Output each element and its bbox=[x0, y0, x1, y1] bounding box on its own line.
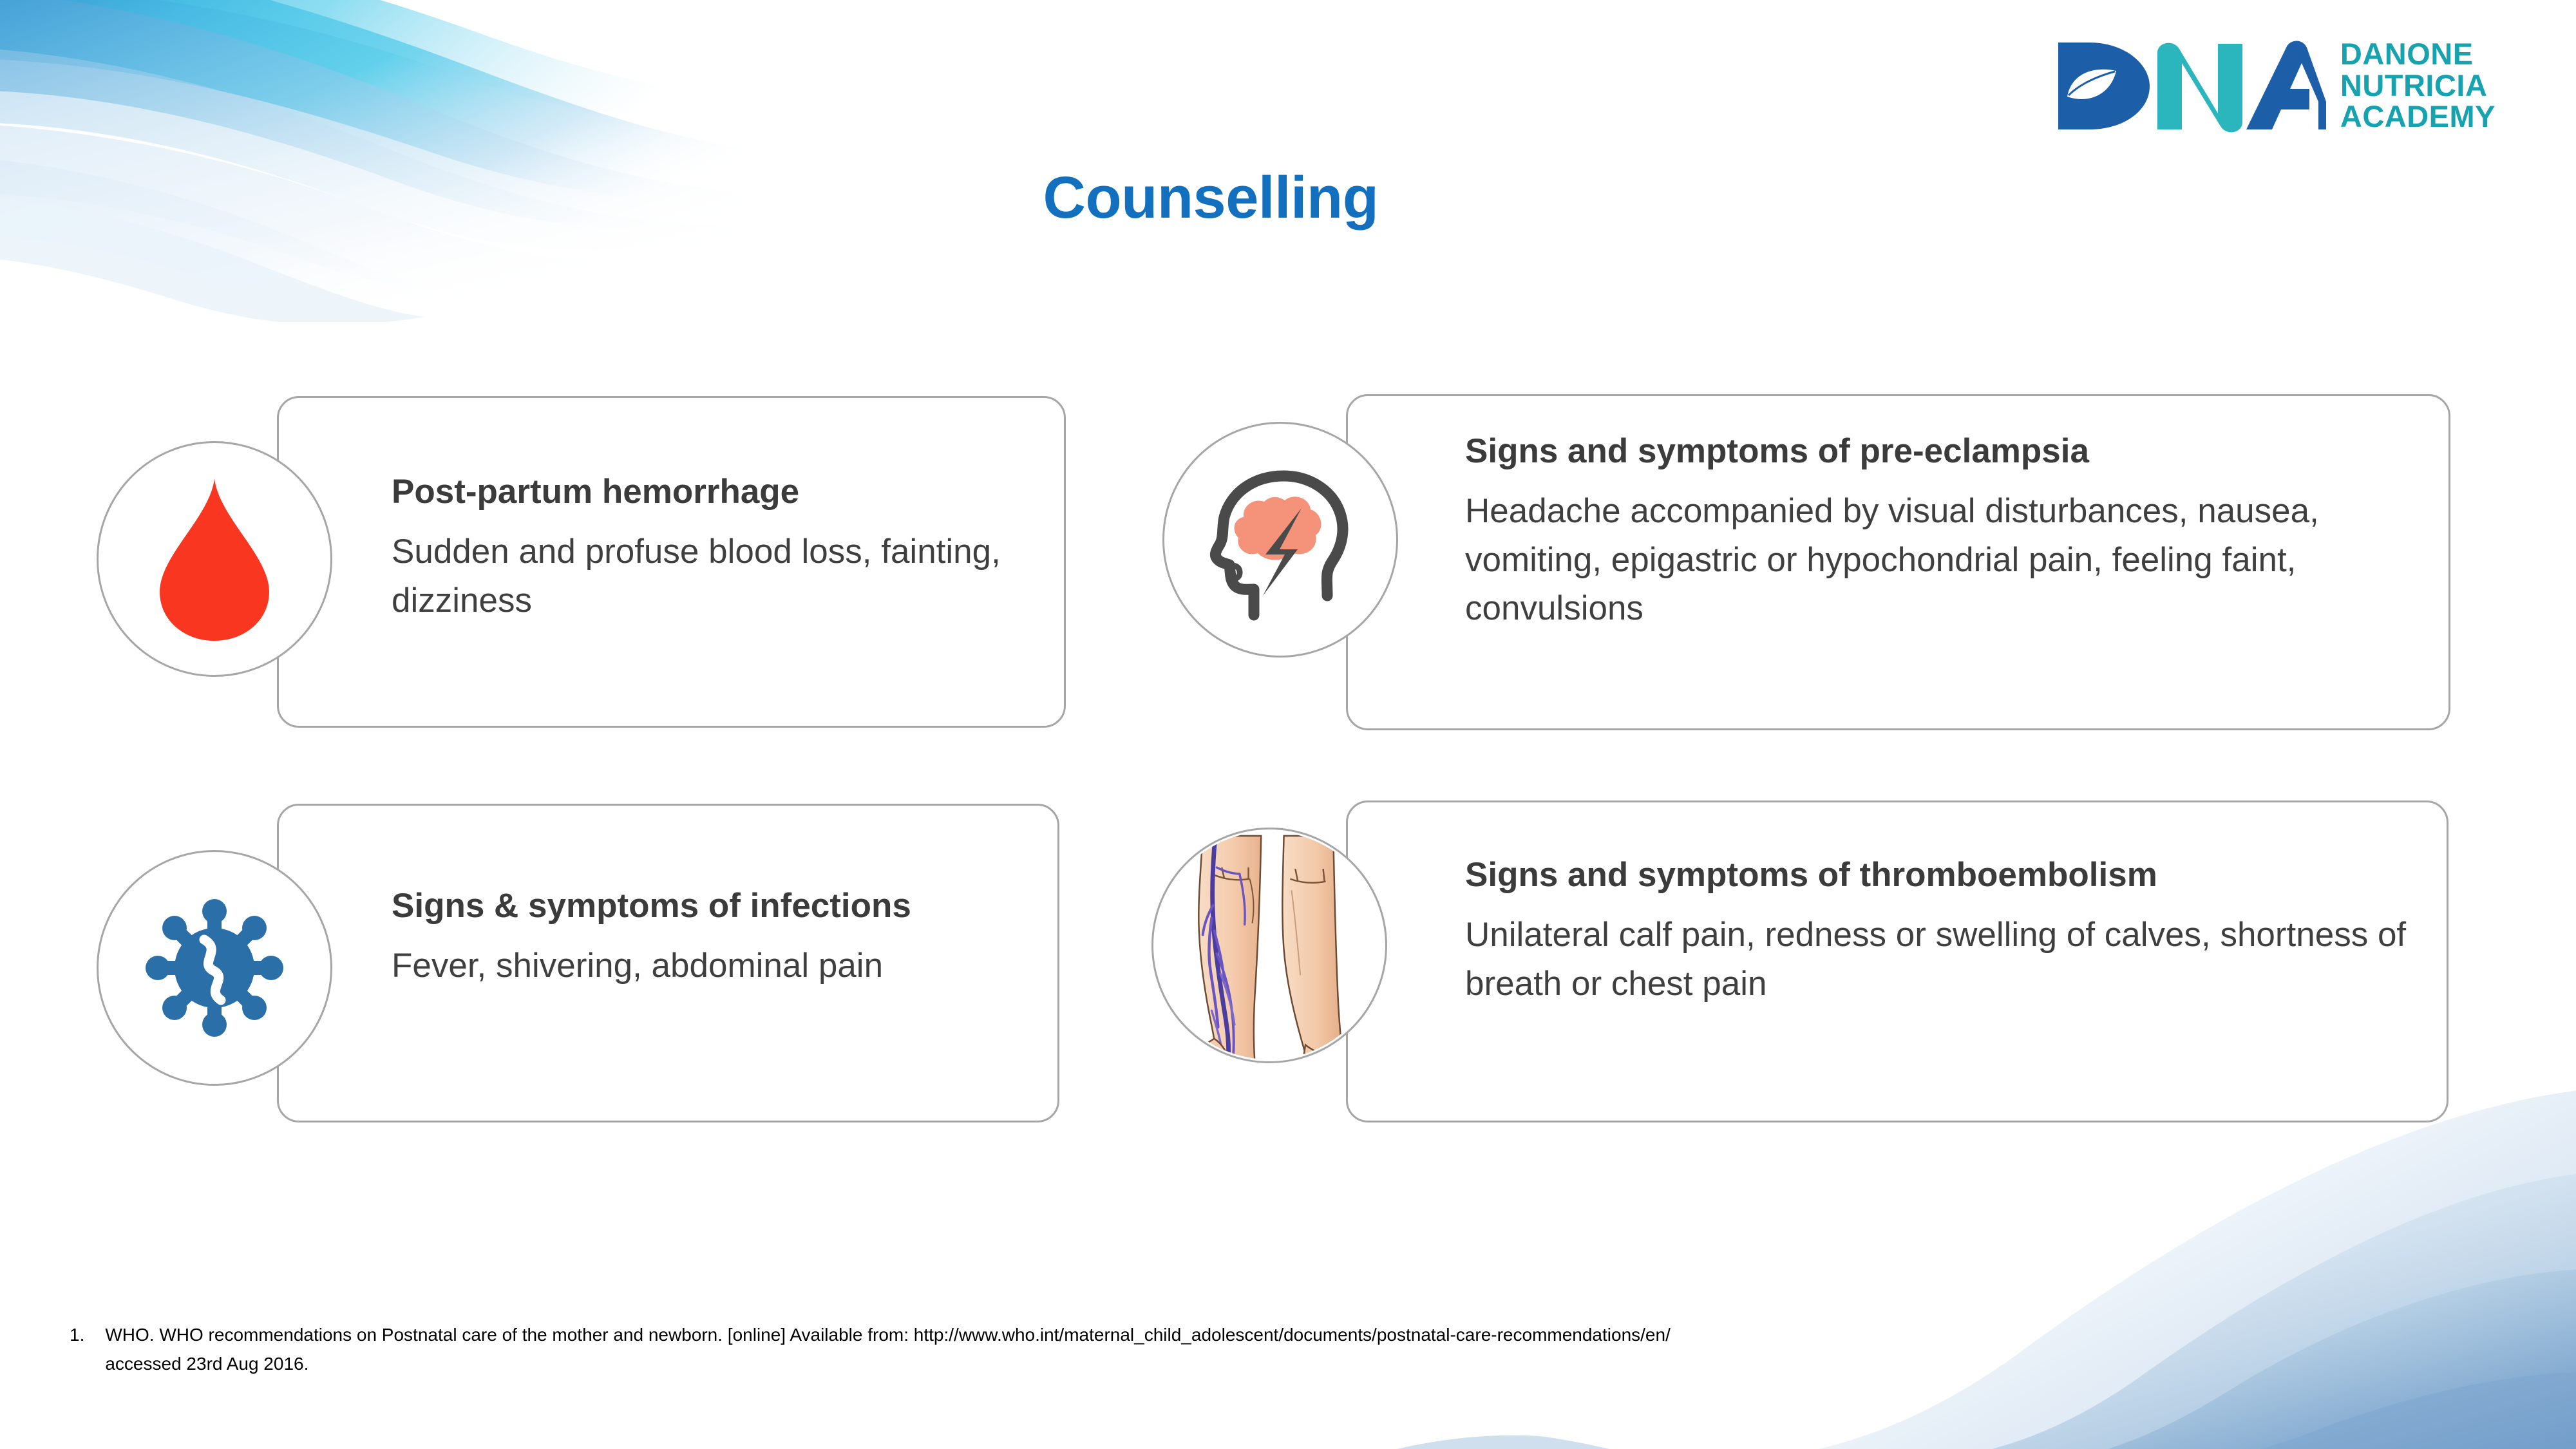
card-text: Signs & symptoms of infections Fever, sh… bbox=[392, 887, 1042, 990]
blood-drop-icon bbox=[140, 472, 289, 646]
card-text: Signs and symptoms of thromboembolism Un… bbox=[1465, 857, 2425, 1008]
card-body: Unilateral calf pain, redness or swellin… bbox=[1465, 911, 2425, 1008]
card-icon-circle bbox=[97, 850, 332, 1086]
footnote-number: 1. bbox=[70, 1320, 84, 1379]
card-body: Fever, shivering, abdominal pain bbox=[392, 942, 1042, 990]
card-icon-circle bbox=[1151, 828, 1387, 1063]
card-title: Signs and symptoms of thromboembolism bbox=[1465, 857, 2425, 894]
card-text: Post-partum hemorrhage Sudden and profus… bbox=[392, 473, 1042, 625]
card-icon-circle bbox=[1162, 422, 1398, 658]
card-body: Sudden and profuse blood loss, fainting,… bbox=[392, 527, 1042, 625]
card-title: Signs and symptoms of pre-eclampsia bbox=[1465, 433, 2425, 470]
card-text: Signs and symptoms of pre-eclampsia Head… bbox=[1465, 433, 2425, 632]
card-icon-circle bbox=[97, 441, 332, 677]
head-brain-lightning-icon bbox=[1187, 446, 1374, 633]
card-title: Post-partum hemorrhage bbox=[392, 473, 1042, 511]
cards-grid: Post-partum hemorrhage Sudden and profus… bbox=[0, 0, 2576, 1449]
card-body: Headache accompanied by visual disturban… bbox=[1465, 487, 2425, 632]
legs-varicose-veins-icon bbox=[1153, 828, 1385, 1063]
footnote-text: WHO. WHO recommendations on Postnatal ca… bbox=[105, 1320, 1744, 1379]
footnote-reference: 1. WHO. WHO recommendations on Postnatal… bbox=[70, 1320, 1744, 1379]
virus-germ-icon bbox=[137, 891, 292, 1045]
slide-canvas: DANONE NUTRICIA ACADEMY Counselling Post… bbox=[0, 0, 2576, 1449]
card-title: Signs & symptoms of infections bbox=[392, 887, 1042, 925]
